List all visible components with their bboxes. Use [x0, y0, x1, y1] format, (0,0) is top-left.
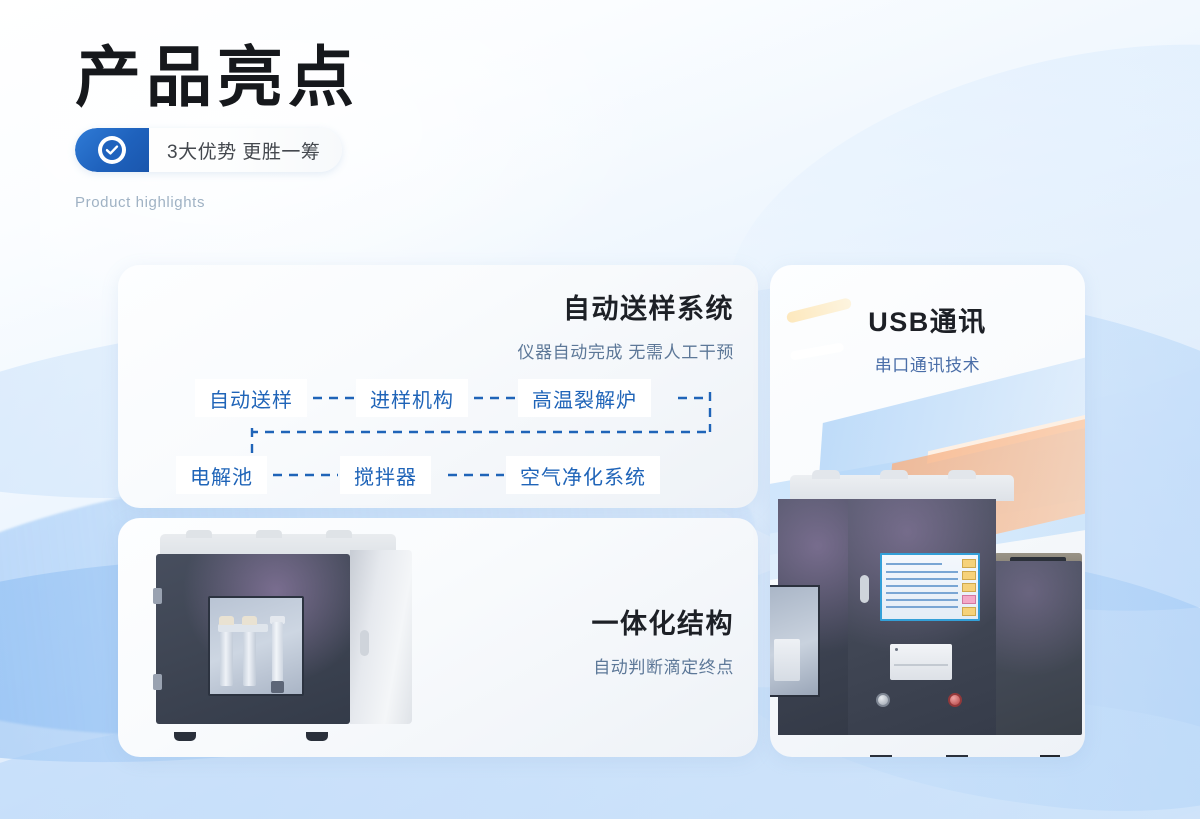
screen-soft-button: [962, 571, 976, 580]
page-subtitle-en: Product highlights: [75, 194, 359, 211]
deco-orange-highlight: [927, 406, 1085, 464]
screen-data-row: [886, 592, 958, 594]
instrument-foot: [306, 732, 328, 741]
screen-data-row: [886, 563, 942, 565]
instrument-touchscreen: [880, 553, 980, 621]
instrument-left-window-content: [774, 639, 800, 681]
screen-soft-button: [962, 607, 976, 616]
screen-soft-button: [962, 559, 976, 568]
page-header: 产品亮点 3大优势 更胜一筹 Product highlights: [75, 44, 359, 211]
screen-data-row: [886, 606, 958, 608]
flow-tag-stirrer[interactable]: 搅拌器: [340, 456, 431, 494]
touchscreen-display: [882, 555, 978, 619]
instrument-foot: [174, 732, 196, 741]
instrument-top-knob: [948, 470, 976, 479]
instrument-top-knob: [812, 470, 840, 479]
instrument-body: [156, 554, 350, 724]
rotameter-tube: [272, 622, 283, 684]
syringe-holder-bar: [218, 624, 268, 632]
instrument-left-window: [770, 585, 820, 697]
instrument-printer-panel: [890, 644, 952, 680]
instrument-autosampler-image: [778, 475, 1085, 757]
card-auto-sampler[interactable]: 自动送样系统 仪器自动完成 无需人工干预: [118, 265, 758, 508]
card-integrated-heading: 一体化结构 自动判断滴定终点: [592, 602, 735, 678]
screen-data-row: [886, 571, 958, 573]
card-integrated-subtitle: 自动判断滴定终点: [592, 653, 735, 678]
printer-indicator: [895, 648, 898, 651]
screen-soft-button: [962, 595, 976, 604]
instrument-top-knob: [186, 530, 212, 538]
process-flow-diagram: 自动送样 进样机构 高温裂解炉 电解池 搅拌器 空气净化系统: [118, 370, 758, 500]
screen-data-row: [886, 585, 958, 587]
instrument-port-red: [948, 693, 962, 707]
instrument-main-module: [848, 499, 996, 735]
card-auto-sampler-heading: 自动送样系统 仪器自动完成 无需人工干预: [517, 287, 734, 363]
card-auto-sampler-subtitle: 仪器自动完成 无需人工干预: [517, 338, 734, 363]
instrument-foot: [1040, 755, 1060, 757]
flow-tag-pyrolysis-furnace[interactable]: 高温裂解炉: [518, 379, 651, 417]
screen-data-row: [886, 578, 958, 580]
screen-data-row: [886, 599, 958, 601]
instrument-door-hinge: [153, 588, 162, 604]
card-auto-sampler-title: 自动送样系统: [517, 287, 734, 326]
rotameter-valve: [271, 681, 284, 693]
instrument-left-module: [778, 499, 850, 735]
card-usb-communication[interactable]: USB通讯 串口通讯技术: [770, 265, 1085, 757]
instrument-front-image: [156, 534, 416, 734]
check-circle-icon: [98, 136, 126, 164]
printer-paper-slot: [894, 664, 948, 666]
card-integrated-title: 一体化结构: [592, 602, 735, 641]
syringe-barrel: [243, 632, 256, 686]
syringe-barrel: [220, 632, 233, 686]
advantages-badge: 3大优势 更胜一筹: [75, 128, 342, 172]
flow-tag-electrolytic-cell[interactable]: 电解池: [176, 456, 267, 494]
flow-tag-auto-feed[interactable]: 自动送样: [195, 379, 307, 417]
instrument-port-silver: [876, 693, 890, 707]
card-integrated-structure[interactable]: 一体化结构 自动判断滴定终点: [118, 518, 758, 757]
badge-label: 3大优势 更胜一筹: [149, 128, 342, 172]
instrument-viewing-window: [208, 596, 304, 696]
syringe-cap: [242, 616, 257, 625]
badge-icon-container: [75, 128, 149, 172]
screen-soft-button: [962, 583, 976, 592]
card-usb-subtitle: 串口通讯技术: [770, 351, 1085, 376]
card-usb-heading: USB通讯 串口通讯技术: [770, 300, 1085, 376]
flow-tag-air-purification[interactable]: 空气净化系统: [506, 456, 660, 494]
instrument-foot: [946, 755, 968, 757]
instrument-door-handle: [860, 575, 869, 603]
page-title: 产品亮点: [75, 44, 359, 110]
syringe-cap: [219, 616, 234, 625]
instrument-top-knob: [326, 530, 352, 538]
instrument-top-knob: [880, 470, 908, 479]
instrument-top-knob: [256, 530, 282, 538]
instrument-door-handle: [360, 630, 369, 656]
instrument-foot: [870, 755, 892, 757]
instrument-door-hinge: [153, 674, 162, 690]
flow-tag-injection-mechanism[interactable]: 进样机构: [356, 379, 468, 417]
card-usb-title: USB通讯: [770, 300, 1085, 339]
autosampler-module: [994, 561, 1082, 735]
